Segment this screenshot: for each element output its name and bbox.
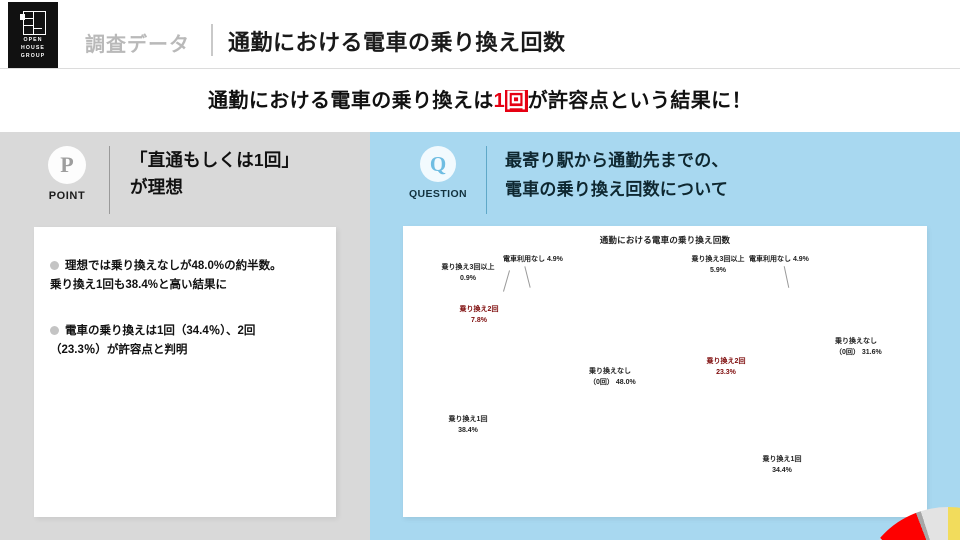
slice-label-accept-none: 乗り換えなし （0回） 31.6% bbox=[835, 336, 882, 358]
slice-label-accept-2times: 乗り換え2回 23.3% bbox=[691, 356, 761, 378]
slice-label-accept-notrain: 電車利用なし 4.9% bbox=[749, 254, 809, 265]
question-badge-icon: Q bbox=[420, 146, 456, 182]
leader-line bbox=[524, 266, 530, 288]
bullet-0-line-1: 理想では乗り換えなしが48.0%の約半数。 bbox=[65, 260, 282, 272]
point-badge-icon: P bbox=[48, 146, 86, 184]
subtitle-post: が許容点という結果に！ bbox=[528, 90, 752, 112]
slice-label-ideal-notrain: 電車利用なし 4.9% bbox=[503, 254, 563, 265]
question-label: QUESTION bbox=[408, 188, 468, 200]
question-heading-line-2: 電車の乗り換え回数について bbox=[505, 175, 935, 204]
brand-logo: OPEN HOUSE GROUP bbox=[8, 2, 58, 68]
subtitle-pre: 通勤における電車の乗り換えは bbox=[208, 90, 494, 112]
slice-label-ideal-2times: 乗り換え2回 7.8% bbox=[444, 304, 514, 326]
point-vertical-rule bbox=[109, 146, 110, 214]
subtitle: 通勤における電車の乗り換えは1回が許容点という結果に！ bbox=[0, 84, 960, 113]
logo-line-3: GROUP bbox=[21, 53, 46, 59]
bullet-0-line-2: 乗り換え1回も38.4%と高い結果に bbox=[50, 276, 326, 295]
point-heading-line-1: 「直通もしくは1回」 bbox=[130, 147, 370, 174]
question-heading: 最寄り駅から通勤先までの、 電車の乗り換え回数について bbox=[505, 146, 935, 204]
bullet-1-line-1: 電車の乗り換えは1回（34.4％）、2回 bbox=[65, 325, 255, 337]
slide-root: OPEN HOUSE GROUP 調査データ 通勤における電車の乗り換え回数 通… bbox=[0, 0, 960, 540]
donut-ring bbox=[858, 507, 960, 540]
point-heading-line-2: が理想 bbox=[130, 174, 370, 201]
chart-card: 通勤における電車の乗り換え回数 理想 許容 乗り換え3回以上 0.9% 電車利用… bbox=[403, 226, 927, 517]
slice-label-ideal-1time: 乗り換え1回 38.4% bbox=[425, 414, 511, 436]
bullet-dot-icon bbox=[50, 261, 59, 270]
header-kicker: 調査データ bbox=[85, 28, 190, 57]
slice-label-ideal-none: 乗り換えなし （0回） 48.0% bbox=[589, 366, 636, 388]
list-item: 電車の乗り換えは1回（34.4％）、2回 （23.3％）が許容点と判明 bbox=[50, 322, 326, 360]
point-label: POINT bbox=[40, 190, 94, 202]
question-heading-line-1: 最寄り駅から通勤先までの、 bbox=[505, 146, 935, 175]
chart-title: 通勤における電車の乗り換え回数 bbox=[403, 234, 927, 246]
donut-chart-ideal: 理想 bbox=[858, 507, 960, 540]
slice-label-accept-1time: 乗り換え1回 34.4% bbox=[739, 454, 825, 476]
subtitle-boxed-unit: 回 bbox=[505, 90, 527, 112]
header-divider bbox=[211, 24, 213, 56]
header-rule bbox=[0, 68, 960, 69]
page-title: 通勤における電車の乗り換え回数 bbox=[228, 25, 566, 57]
subtitle-red-number: 1 bbox=[494, 90, 506, 112]
point-bullets-card: 理想では乗り換えなしが48.0%の約半数。 乗り換え1回も38.4%と高い結果に… bbox=[34, 227, 336, 517]
bullet-dot-icon bbox=[50, 326, 59, 335]
logo-line-1: OPEN bbox=[23, 37, 42, 43]
bullet-1-line-2: （23.3％）が許容点と判明 bbox=[50, 341, 326, 360]
leader-line bbox=[784, 266, 790, 288]
point-heading: 「直通もしくは1回」 が理想 bbox=[130, 147, 370, 201]
logo-line-2: HOUSE bbox=[21, 45, 45, 51]
list-item: 理想では乗り換えなしが48.0%の約半数。 乗り換え1回も38.4%と高い結果に bbox=[50, 257, 326, 295]
question-vertical-rule bbox=[486, 146, 487, 214]
header: OPEN HOUSE GROUP 調査データ 通勤における電車の乗り換え回数 bbox=[0, 0, 960, 68]
openhouse-building-icon bbox=[20, 11, 46, 35]
